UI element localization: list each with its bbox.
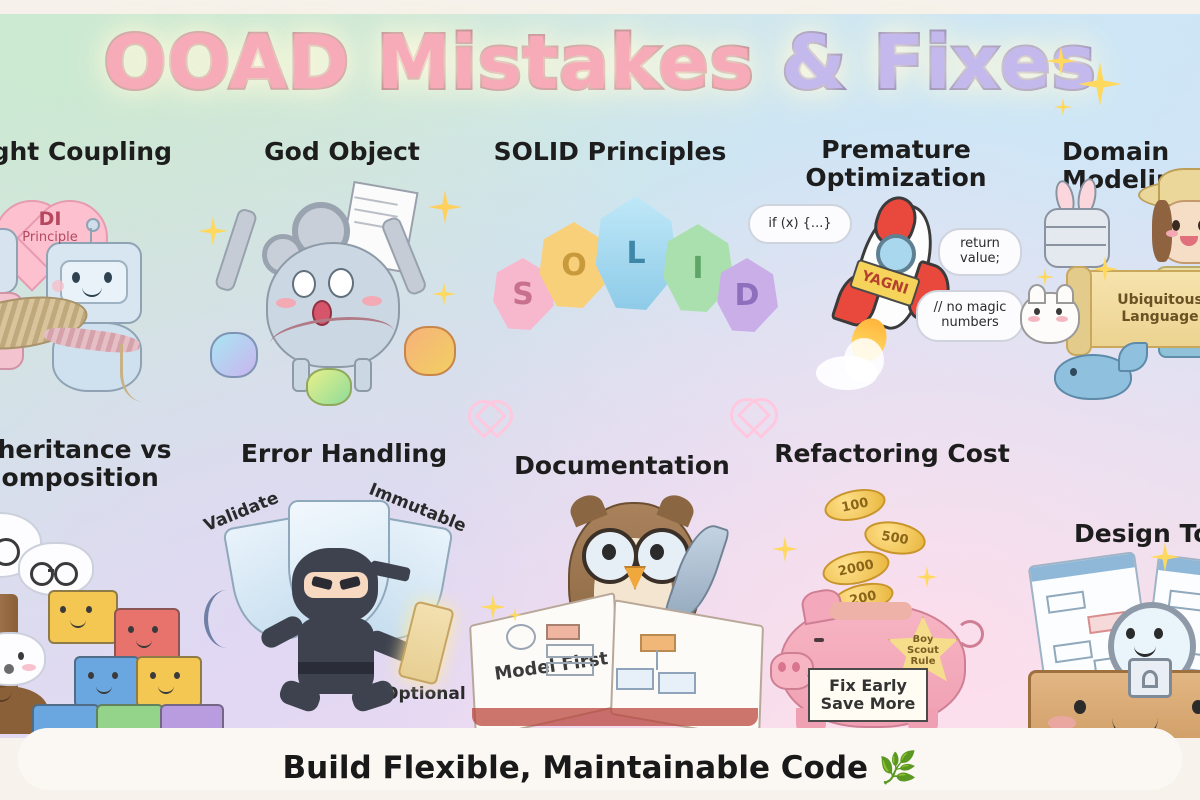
code-bubble-1: if (x) {...} (748, 204, 852, 244)
gem-letter: L (626, 236, 645, 271)
coin-100: 100 (822, 484, 889, 526)
panel-title: Design Tools (1074, 520, 1200, 548)
tight-coupling-art: DI Principle (0, 180, 204, 390)
panel-title: Refactoring Cost (742, 440, 1042, 468)
panel-god-object: God Object (196, 138, 488, 388)
panel-error-handling: Error Handling Validate Immutable Option… (194, 440, 494, 740)
panel-title: Tight Coupling (0, 138, 204, 166)
panel-title: Error Handling (194, 440, 494, 468)
documentation-art: Model First (472, 500, 772, 742)
footer-tagline: Build Flexible, Maintainable Code 🌿 (0, 749, 1200, 786)
panel-design-tools: Design Tools (1026, 520, 1200, 750)
panel-inheritance-vs-composition: Inheritance vs Composition (0, 436, 206, 736)
design-tools-art (1026, 558, 1200, 748)
panel-title: God Object (196, 138, 488, 166)
heart-decoration (730, 398, 758, 426)
panel-title: Documentation (472, 452, 772, 480)
panel-title: Inheritance vs Composition (0, 436, 206, 492)
gem-letter: O (561, 248, 587, 283)
poster-canvas: OOAD Mistakes & Fixes Tight Coupling DI … (0, 0, 1200, 800)
premature-optimization-art: YAGNI if (x) {...} return value; // no m… (748, 198, 1044, 398)
panel-title: Premature Optimization (748, 136, 1044, 192)
di-heart-line1: DI (0, 208, 106, 230)
panel-documentation: Documentation (472, 452, 772, 742)
cloud-face-glasses (18, 542, 94, 596)
gem-letter: S (512, 277, 534, 312)
shield-label-optional: Optional (384, 684, 466, 704)
solid-gems-art: S O L I D (470, 192, 750, 382)
code-bubble-3: // no magic numbers (916, 290, 1024, 342)
refactoring-cost-art: 100 500 2000 200 Boy Scout Rule (760, 480, 1060, 740)
heart-decoration (468, 400, 494, 426)
panel-title: SOLID Principles (470, 138, 750, 166)
panel-domain-modeling: Domain Modeling (1026, 138, 1200, 388)
cloud-face (0, 632, 46, 686)
gem-l: L (594, 196, 678, 310)
code-bubble-2: return value; (938, 228, 1022, 276)
panel-refactoring-cost: Refactoring Cost 100 500 2000 200 (760, 440, 1060, 740)
panel-solid-principles: SOLID Principles S O L I D (470, 138, 750, 388)
inheritance-composition-art (0, 504, 206, 736)
error-handling-art: Validate Immutable Optional (194, 486, 494, 736)
god-object-art (196, 178, 488, 390)
gem-letter: I (692, 251, 703, 286)
di-heart-line2: Principle (0, 230, 106, 245)
panel-tight-coupling: Tight Coupling DI Principle (0, 138, 204, 388)
fix-early-sign: Fix Early Save More (808, 668, 928, 722)
domain-modeling-art: Ubiquitous Language (1026, 178, 1200, 390)
panel-premature-optimization: Premature Optimization YAGNI if (x) {...… (748, 136, 1044, 398)
top-frame (0, 0, 1200, 14)
